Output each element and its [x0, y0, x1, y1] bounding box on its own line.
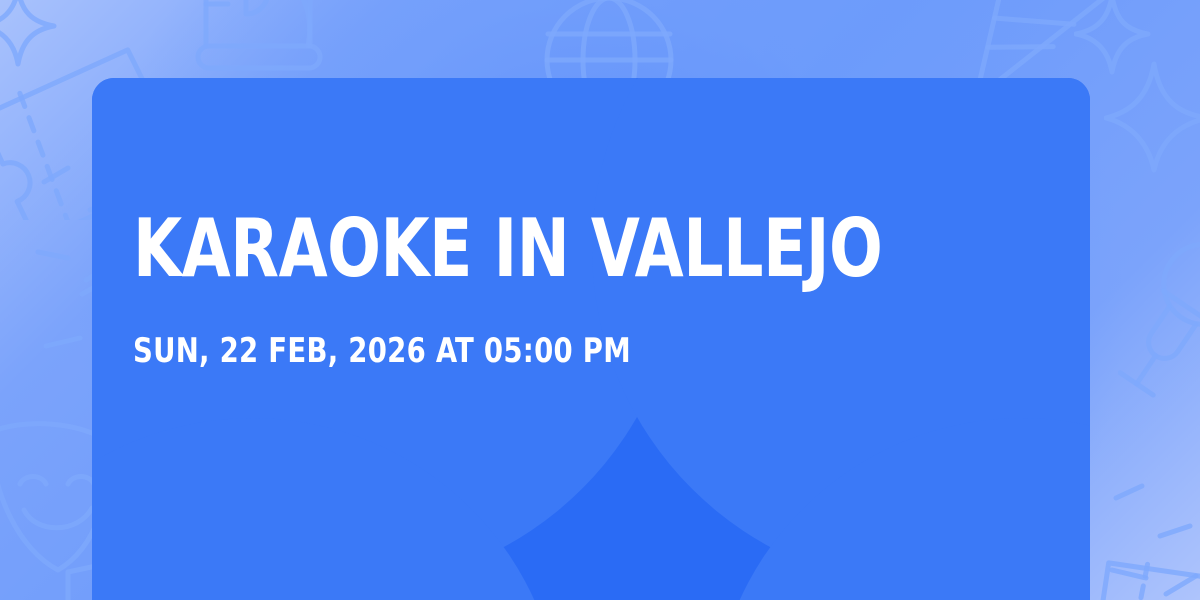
microphone-icon — [1118, 232, 1200, 412]
sparkle-icon — [1074, 0, 1154, 80]
confetti-icon — [1106, 462, 1200, 600]
stage-icon — [168, 0, 348, 90]
ticket-icon — [1078, 540, 1200, 600]
event-card: KARAOKE IN VALLEJO SUN, 22 FEB, 2026 AT … — [92, 78, 1090, 600]
event-banner: KARAOKE IN VALLEJO SUN, 22 FEB, 2026 AT … — [0, 0, 1200, 600]
sparkle-icon — [1104, 56, 1200, 176]
event-card-content: KARAOKE IN VALLEJO SUN, 22 FEB, 2026 AT … — [133, 78, 1050, 600]
sparkle-icon — [0, 0, 64, 72]
event-datetime: SUN, 22 FEB, 2026 AT 05:00 PM — [133, 334, 958, 368]
event-title: KARAOKE IN VALLEJO — [133, 210, 940, 288]
